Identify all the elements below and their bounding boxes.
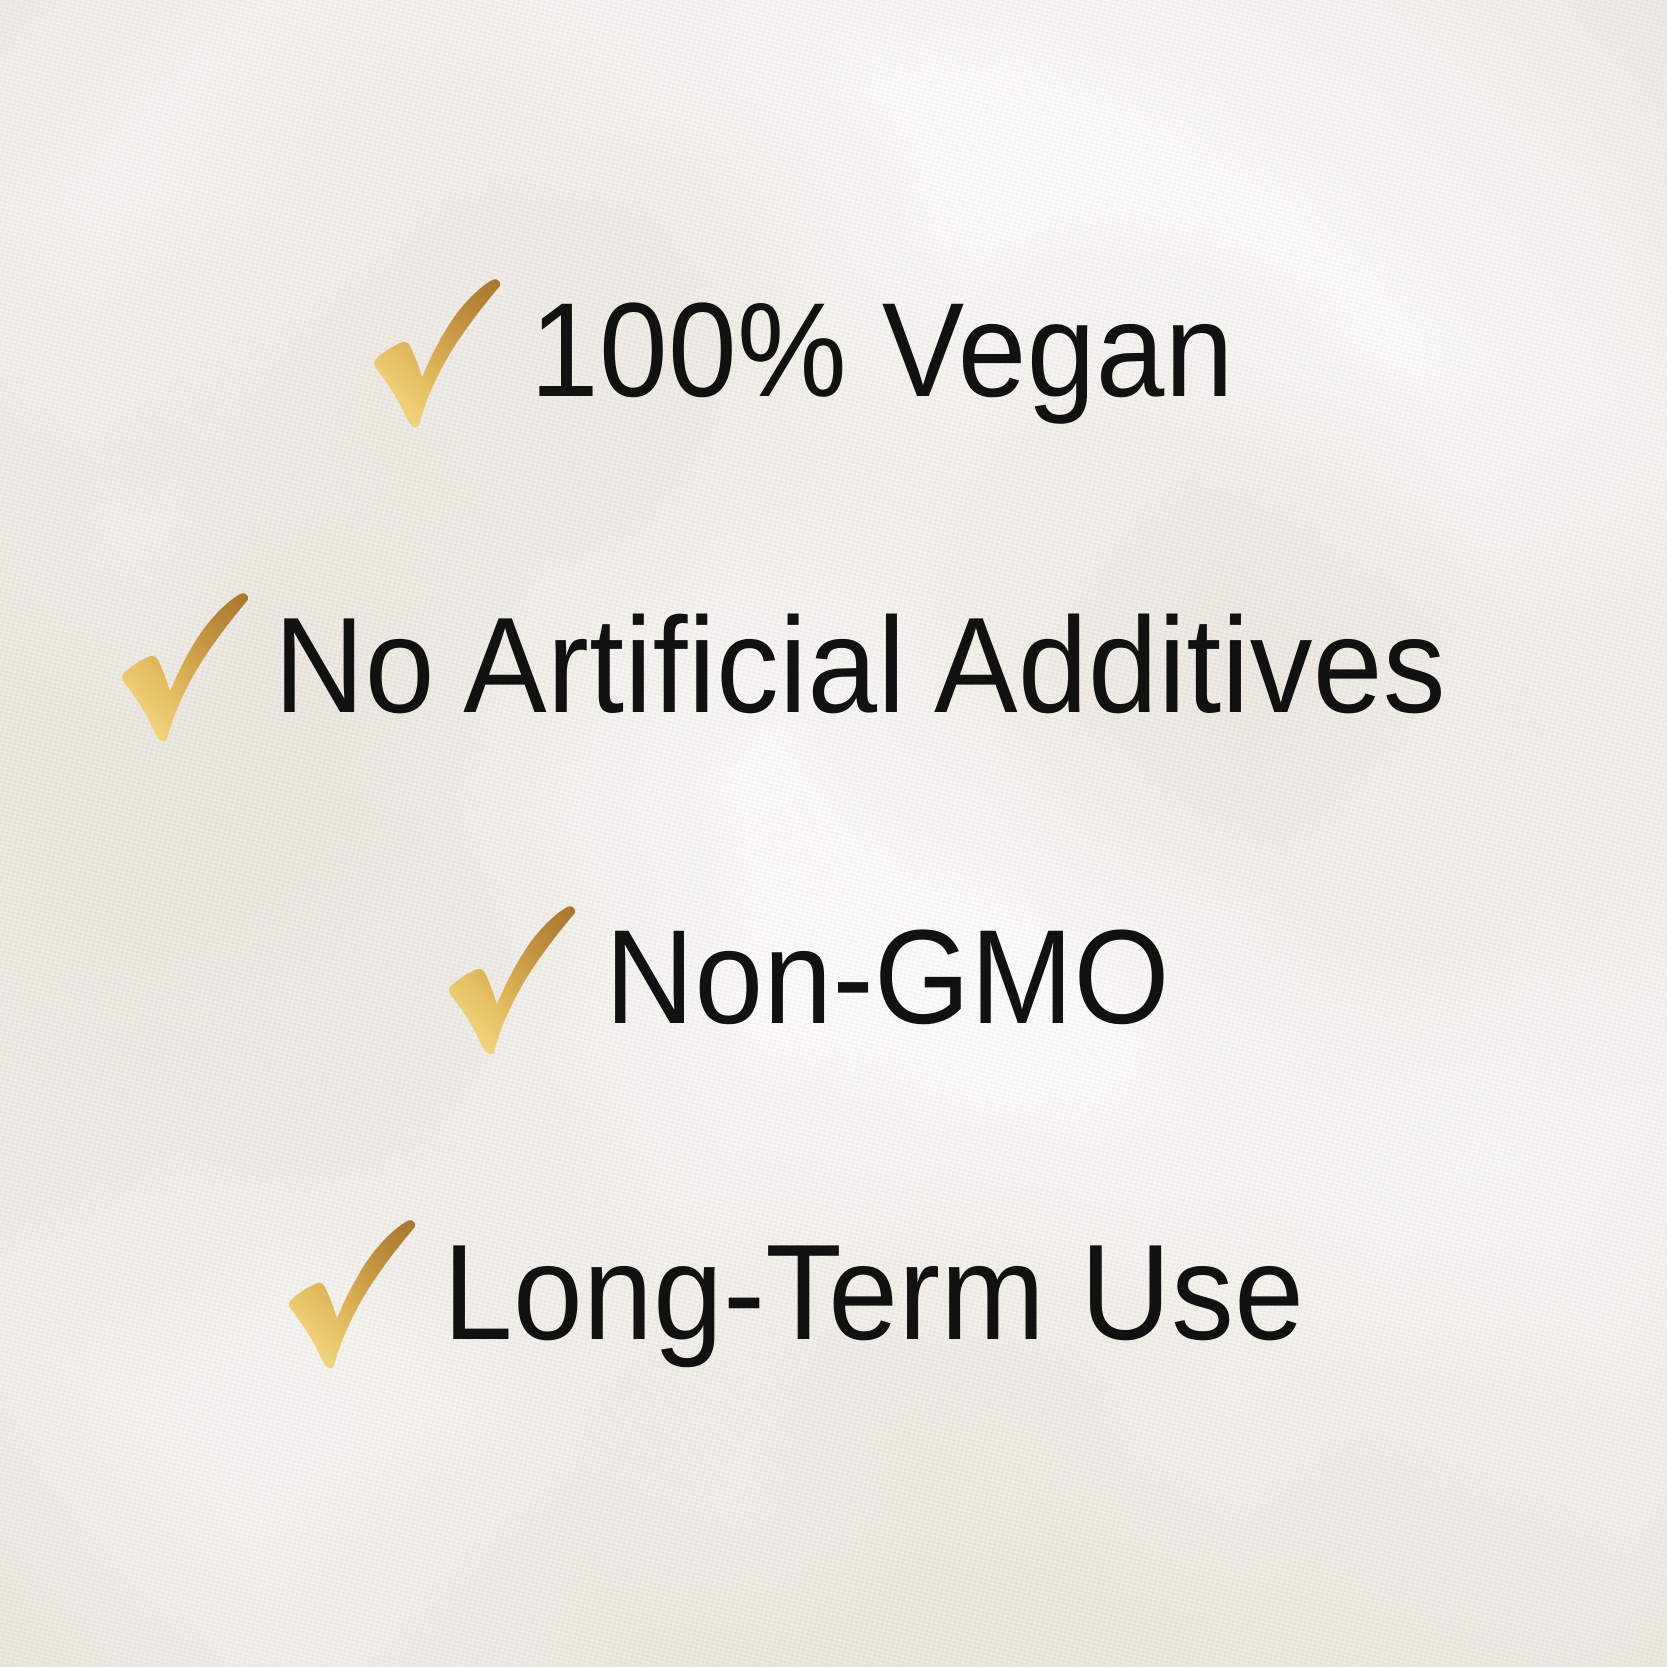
benefits-checklist: 100% Vegan No Artificial Additives Non-G… (0, 0, 1667, 1667)
list-item: Non-GMO (0, 903, 1667, 1053)
poster-canvas: 100% Vegan No Artificial Additives Non-G… (0, 0, 1667, 1667)
list-item-label: No Artificial Additives (274, 597, 1446, 733)
check-icon (372, 278, 504, 428)
list-item: No Artificial Additives (0, 590, 1667, 740)
list-item-label: Long-Term Use (443, 1224, 1304, 1360)
list-item-label: Non-GMO (605, 911, 1170, 1045)
check-icon (120, 592, 252, 742)
list-item: Long-Term Use (0, 1217, 1667, 1367)
list-item: 100% Vegan (0, 276, 1667, 426)
check-icon (287, 1219, 419, 1369)
check-icon (447, 905, 579, 1055)
list-item-label: 100% Vegan (530, 284, 1234, 418)
